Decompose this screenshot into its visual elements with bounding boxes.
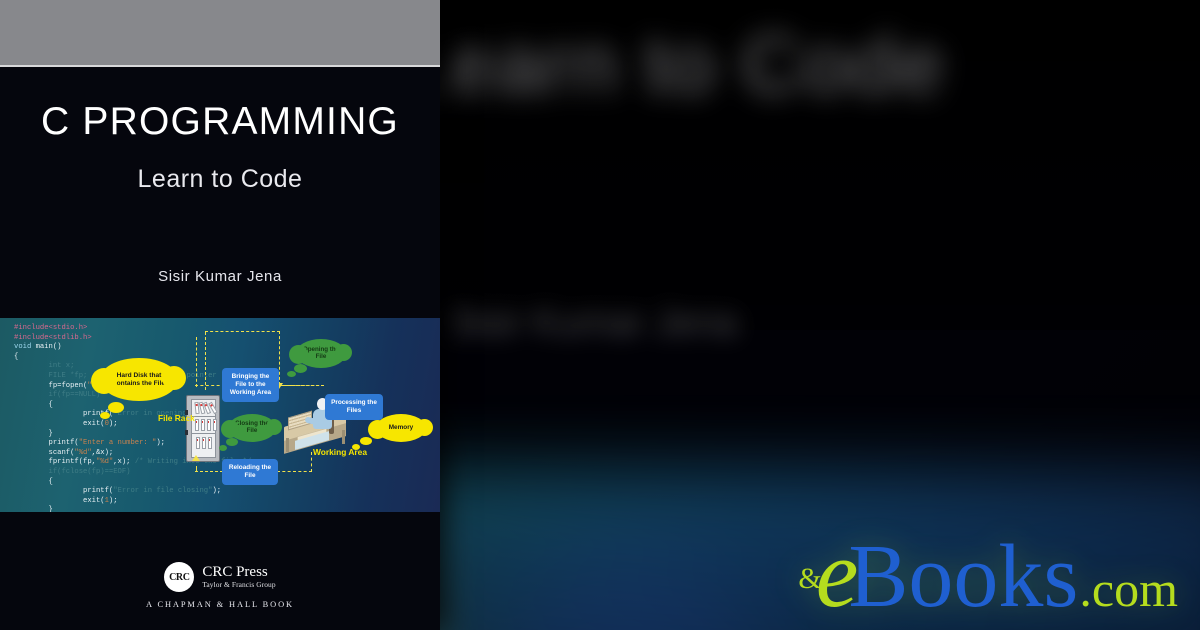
cover-top-bar [0, 0, 440, 67]
desk-leg [342, 430, 345, 444]
ebooks-books-word: Books [848, 541, 1078, 613]
crc-text: CRC Press Taylor & Francis Group [202, 565, 275, 590]
connector-reload-left [195, 471, 223, 472]
box-bringing-file: Bringing the File to the Working Area [222, 368, 279, 402]
desk-leg [286, 438, 289, 452]
publisher-name: CRC Press [202, 565, 275, 581]
cloud-tail [287, 371, 296, 377]
connector-to-desk [279, 331, 280, 385]
label-file-rack: File Rack [158, 414, 195, 424]
connector-reload-corner [196, 466, 197, 472]
ebooks-ampersand-icon: & [798, 562, 821, 596]
ebooks-com-suffix: .com [1079, 569, 1178, 609]
book-cover[interactable]: C PROGRAMMING Learn to Code Sisir Kumar … [0, 0, 440, 630]
box-bringing-file-label: Bringing the File to the Working Area [226, 373, 275, 396]
connector-rack-up [196, 337, 197, 387]
cover-title: C PROGRAMMING [0, 100, 440, 144]
cloud-opening-file-label: Opening the File [300, 347, 342, 361]
cloud-tail [226, 438, 238, 446]
rack-interior [191, 399, 216, 458]
connector-bring-right [278, 385, 324, 386]
connector-top-horizontal [205, 331, 280, 332]
crc-press-logo: CRC CRC Press Taylor & Francis Group [164, 562, 275, 592]
cloud-hard-disk: Hard Disk that contains the File [100, 358, 178, 401]
rack-hinge [185, 430, 188, 435]
label-working-area: Working Area [313, 448, 367, 458]
cover-subtitle: Learn to Code [0, 165, 440, 194]
ebooks-com-logo[interactable]: & e Books .com [798, 536, 1178, 614]
arrow-up-to-rack [192, 455, 200, 461]
box-reloading-file: Reloading the File [222, 459, 278, 485]
cloud-tail [100, 412, 110, 419]
cloud-hard-disk-label: Hard Disk that contains the File [106, 372, 172, 387]
file-rack-cabinet-icon [186, 395, 220, 462]
box-processing-files: Processing the Files [325, 394, 383, 420]
box-processing-files-label: Processing the Files [329, 399, 379, 414]
publisher-block: CRC CRC Press Taylor & Francis Group A C… [0, 562, 440, 609]
cloud-memory-label: Memory [389, 424, 414, 431]
connector-rack-top [205, 332, 206, 390]
cloud-memory: Memory [376, 414, 426, 442]
cover-author: Sisir Kumar Jena [0, 268, 440, 285]
connector-desk-bottom [311, 452, 312, 472]
cloud-tail [360, 437, 372, 445]
box-reloading-file-label: Reloading the File [226, 464, 274, 479]
rack-shelf [192, 434, 215, 451]
cloud-tail [294, 364, 307, 373]
cloud-tail [219, 445, 227, 451]
imprint-line: A CHAPMAN & HALL BOOK [0, 600, 440, 609]
cloud-tail [108, 402, 124, 413]
connector-reload-right [277, 471, 312, 472]
publisher-group: Taylor & Francis Group [202, 580, 275, 589]
cloud-closing-file-label: Closing the File [232, 421, 272, 435]
crc-mark-icon: CRC [164, 562, 194, 592]
connector-bring-left [195, 385, 225, 386]
